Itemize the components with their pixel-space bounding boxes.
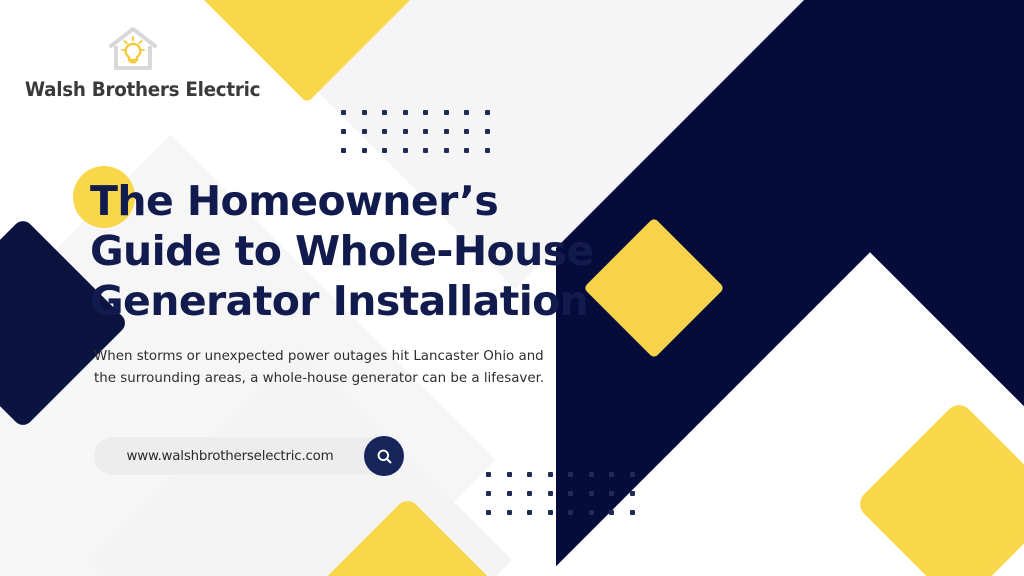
page-title: The Homeowner’s Guide to Whole-House Gen…: [90, 176, 600, 326]
headline-line-1: The Homeowner’s: [90, 176, 600, 226]
brand-logo[interactable]: Walsh Brothers Electric: [18, 24, 248, 101]
headline-block: The Homeowner’s Guide to Whole-House Gen…: [90, 176, 600, 326]
search-button[interactable]: [364, 436, 404, 476]
dot-grid-bottom: [486, 472, 650, 529]
brand-name: Walsh Brothers Electric: [25, 78, 241, 101]
subtitle: When storms or unexpected power outages …: [94, 346, 564, 390]
search-icon: [375, 447, 394, 466]
banner-canvas: Walsh Brothers Electric The Homeowner’s …: [0, 0, 1024, 576]
subtitle-line-1: When storms or unexpected power outages …: [94, 346, 564, 368]
dot-grid-top: [341, 110, 505, 167]
house-lightbulb-icon: [104, 24, 162, 74]
website-url-text: www.walshbrotherselectric.com: [126, 449, 333, 464]
website-url-bar[interactable]: www.walshbrotherselectric.com: [94, 437, 400, 475]
headline-line-3: Generator Installation: [90, 276, 600, 326]
headline-line-2: Guide to Whole-House: [90, 226, 600, 276]
subtitle-line-2: the surrounding areas, a whole-house gen…: [94, 368, 564, 390]
